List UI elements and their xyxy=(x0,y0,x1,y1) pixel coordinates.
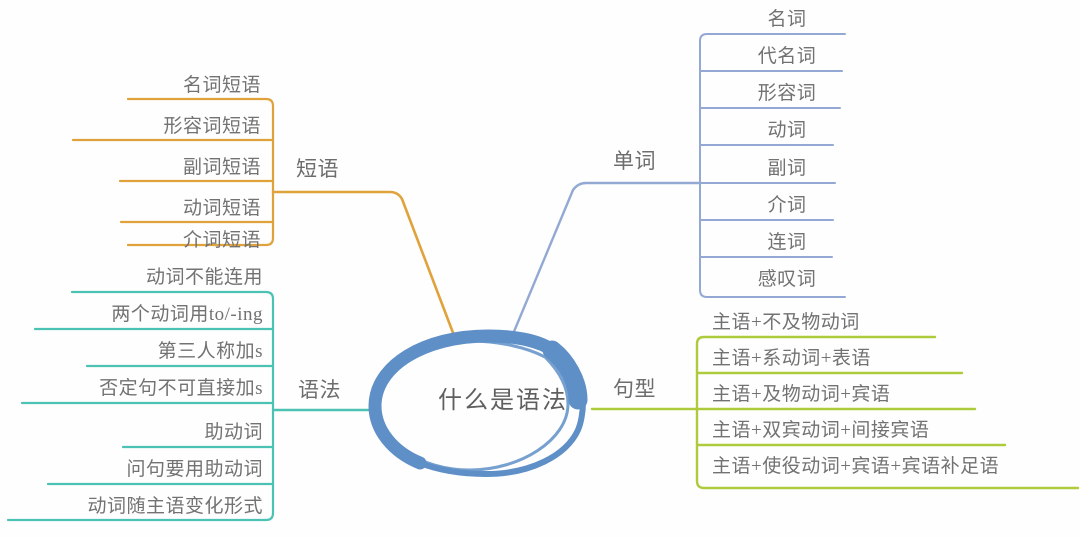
center-node-label: 什么是语法 xyxy=(418,380,588,415)
branch-label-grammar[interactable]: 语法 xyxy=(298,380,341,401)
branch-label-phrase[interactable]: 短语 xyxy=(296,159,339,180)
leaf-grammar-4[interactable]: 助动词 xyxy=(10,423,263,442)
leaf-word-2[interactable]: 形容词 xyxy=(712,84,862,103)
leaf-sentence-2[interactable]: 主语+及物动词+宾语 xyxy=(712,385,890,404)
leaf-phrase-2[interactable]: 副词短语 xyxy=(53,158,261,177)
leaf-word-6[interactable]: 连词 xyxy=(712,233,862,252)
leaf-grammar-2[interactable]: 第三人称加s xyxy=(10,342,263,361)
branch-label-sentence[interactable]: 句型 xyxy=(613,379,656,400)
leaf-word-0[interactable]: 名词 xyxy=(712,10,862,29)
leaf-word-7[interactable]: 感叹词 xyxy=(712,270,862,289)
leaf-grammar-6[interactable]: 动词随主语变化形式 xyxy=(10,497,263,516)
leaf-sentence-0[interactable]: 主语+不及物动词 xyxy=(712,313,860,332)
leaf-grammar-1[interactable]: 两个动词用to/-ing xyxy=(10,305,263,324)
leaf-grammar-0[interactable]: 动词不能连用 xyxy=(10,268,263,287)
mindmap-canvas: 什么是语法 短语 单词 语法 句型 名词短语 形容词短语 副词短语 动词短语 介… xyxy=(0,0,1080,538)
leaf-phrase-4[interactable]: 介词短语 xyxy=(53,231,261,250)
leaf-grammar-5[interactable]: 问句要用助动词 xyxy=(10,460,263,479)
leaf-grammar-3[interactable]: 否定句不可直接加s xyxy=(10,379,263,398)
leaf-word-4[interactable]: 副词 xyxy=(712,159,862,178)
leaf-sentence-3[interactable]: 主语+双宾动词+间接宾语 xyxy=(712,421,929,440)
leaf-word-5[interactable]: 介词 xyxy=(712,196,862,215)
branch-grammar-lines xyxy=(8,292,378,520)
leaf-sentence-4[interactable]: 主语+使役动词+宾语+宾语补足语 xyxy=(712,457,999,476)
leaf-sentence-1[interactable]: 主语+系动词+表语 xyxy=(712,349,871,368)
leaf-phrase-1[interactable]: 形容词短语 xyxy=(53,117,261,136)
leaf-phrase-3[interactable]: 动词短语 xyxy=(53,199,261,218)
leaf-word-3[interactable]: 动词 xyxy=(712,121,862,140)
leaf-phrase-0[interactable]: 名词短语 xyxy=(53,76,261,95)
branch-label-word[interactable]: 单词 xyxy=(613,151,656,172)
leaf-word-1[interactable]: 代名词 xyxy=(712,47,862,66)
